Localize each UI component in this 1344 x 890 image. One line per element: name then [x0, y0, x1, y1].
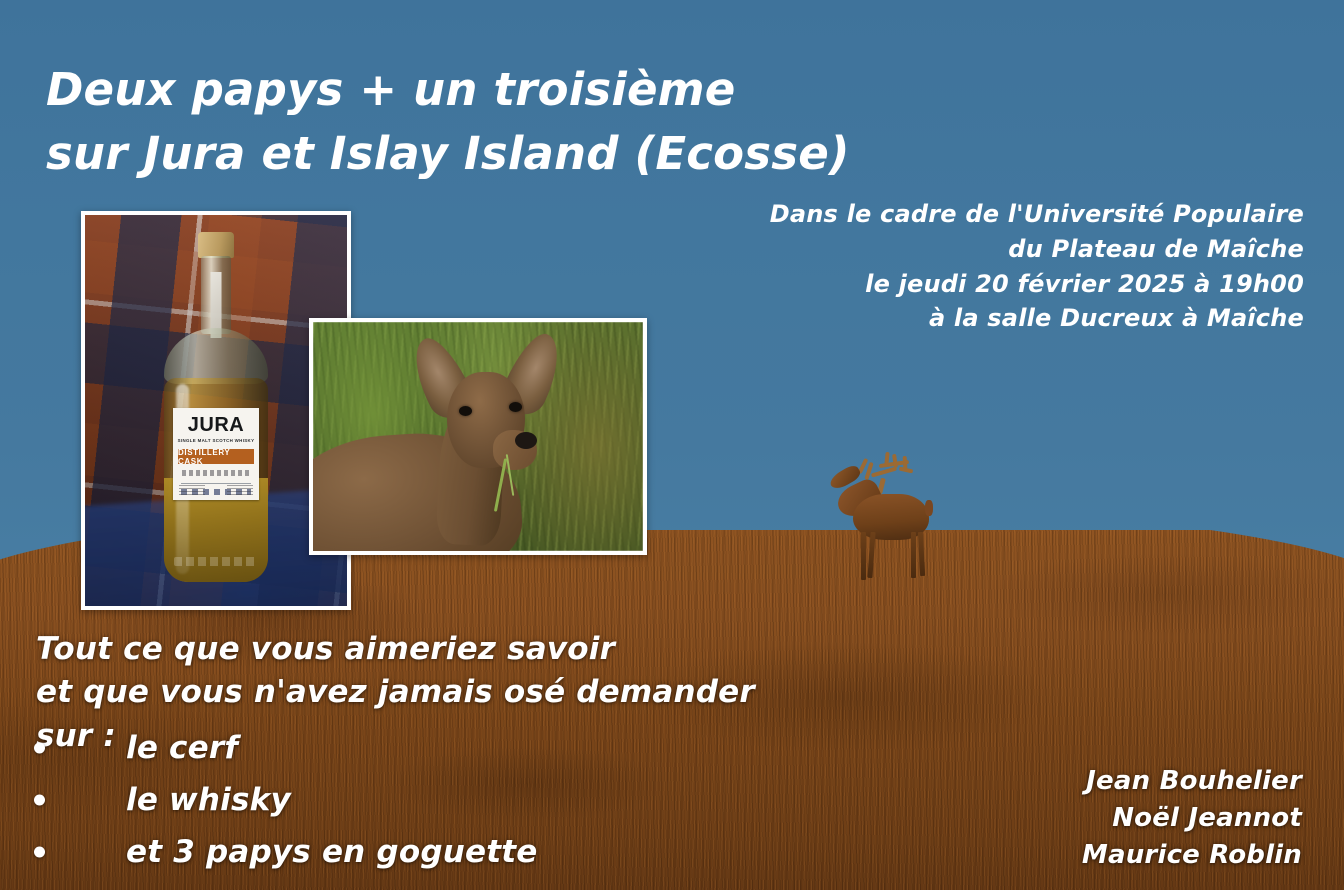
bottle-label-rule	[181, 483, 251, 484]
stag-leg	[861, 532, 866, 580]
presenter-name: Jean Bouhelier	[1082, 763, 1302, 800]
whisky-bottle-photo-inner: JURA SINGLE MALT SCOTCH WHISKY DISTILLER…	[85, 215, 347, 606]
stag-leg	[918, 532, 925, 576]
bottle-label-band: DISTILLERY CASK	[178, 449, 254, 464]
deer-photo	[309, 318, 647, 555]
presenters-list: Jean Bouhelier Noël Jeannot Maurice Robl…	[1082, 763, 1302, 874]
bottle-label-footer	[179, 485, 253, 495]
list-item: le whisky	[30, 774, 730, 826]
list-item: et 3 papys en goguette	[30, 826, 730, 878]
topic-label: et 3 papys en goguette	[126, 837, 537, 868]
bullet-icon	[34, 743, 45, 754]
deer-eye-left	[459, 406, 472, 416]
bottle-label-subtitle: SINGLE MALT SCOTCH WHISKY	[173, 438, 259, 443]
list-item: le cerf	[30, 722, 730, 774]
bullet-icon	[34, 795, 45, 806]
deer-eye-right	[509, 402, 522, 412]
bottle-label-footer-right	[227, 485, 253, 495]
poster-title: Deux papys + un troisième sur Jura et Is…	[46, 58, 1106, 187]
topic-label: le whisky	[126, 785, 291, 816]
deer-photo-inner	[313, 322, 643, 551]
topics-list: le cerf le whisky et 3 papys en goguette	[30, 722, 730, 878]
event-date-time: le jeudi 20 février 2025 à 19h00	[664, 267, 1304, 302]
stag-leg	[867, 532, 875, 578]
presenter-name: Maurice Roblin	[1082, 837, 1302, 874]
bottle-label-handwriting	[182, 470, 250, 476]
topic-label: le cerf	[126, 733, 238, 764]
bullet-icon	[34, 847, 45, 858]
bottle-label: JURA SINGLE MALT SCOTCH WHISKY DISTILLER…	[173, 408, 259, 500]
poster-canvas: Deux papys + un troisième sur Jura et Is…	[0, 0, 1344, 890]
bottle-embossing	[174, 557, 258, 566]
intro-line-1: Tout ce que vous aimeriez savoir	[36, 628, 796, 671]
event-organizer-line: Dans le cadre de l'Université Populaire	[664, 197, 1304, 232]
event-info-block: Dans le cadre de l'Université Populaire …	[664, 197, 1304, 336]
whisky-bottle: JURA SINGLE MALT SCOTCH WHISKY DISTILLER…	[159, 232, 273, 588]
stag-leg	[911, 532, 916, 578]
presenter-name: Noël Jeannot	[1082, 800, 1302, 837]
bottle-label-brand: JURA	[173, 415, 259, 435]
bottle-label-footer-left	[179, 485, 205, 495]
event-organizer-place: du Plateau de Maîche	[664, 232, 1304, 267]
stag-illustration	[835, 448, 947, 582]
deer-illustration	[313, 322, 643, 551]
bottle-cork	[198, 232, 234, 258]
stag-tail	[925, 500, 933, 516]
event-venue: à la salle Ducreux à Maîche	[664, 301, 1304, 336]
deer-nose	[515, 432, 537, 449]
bottle-shoulder	[164, 328, 268, 384]
